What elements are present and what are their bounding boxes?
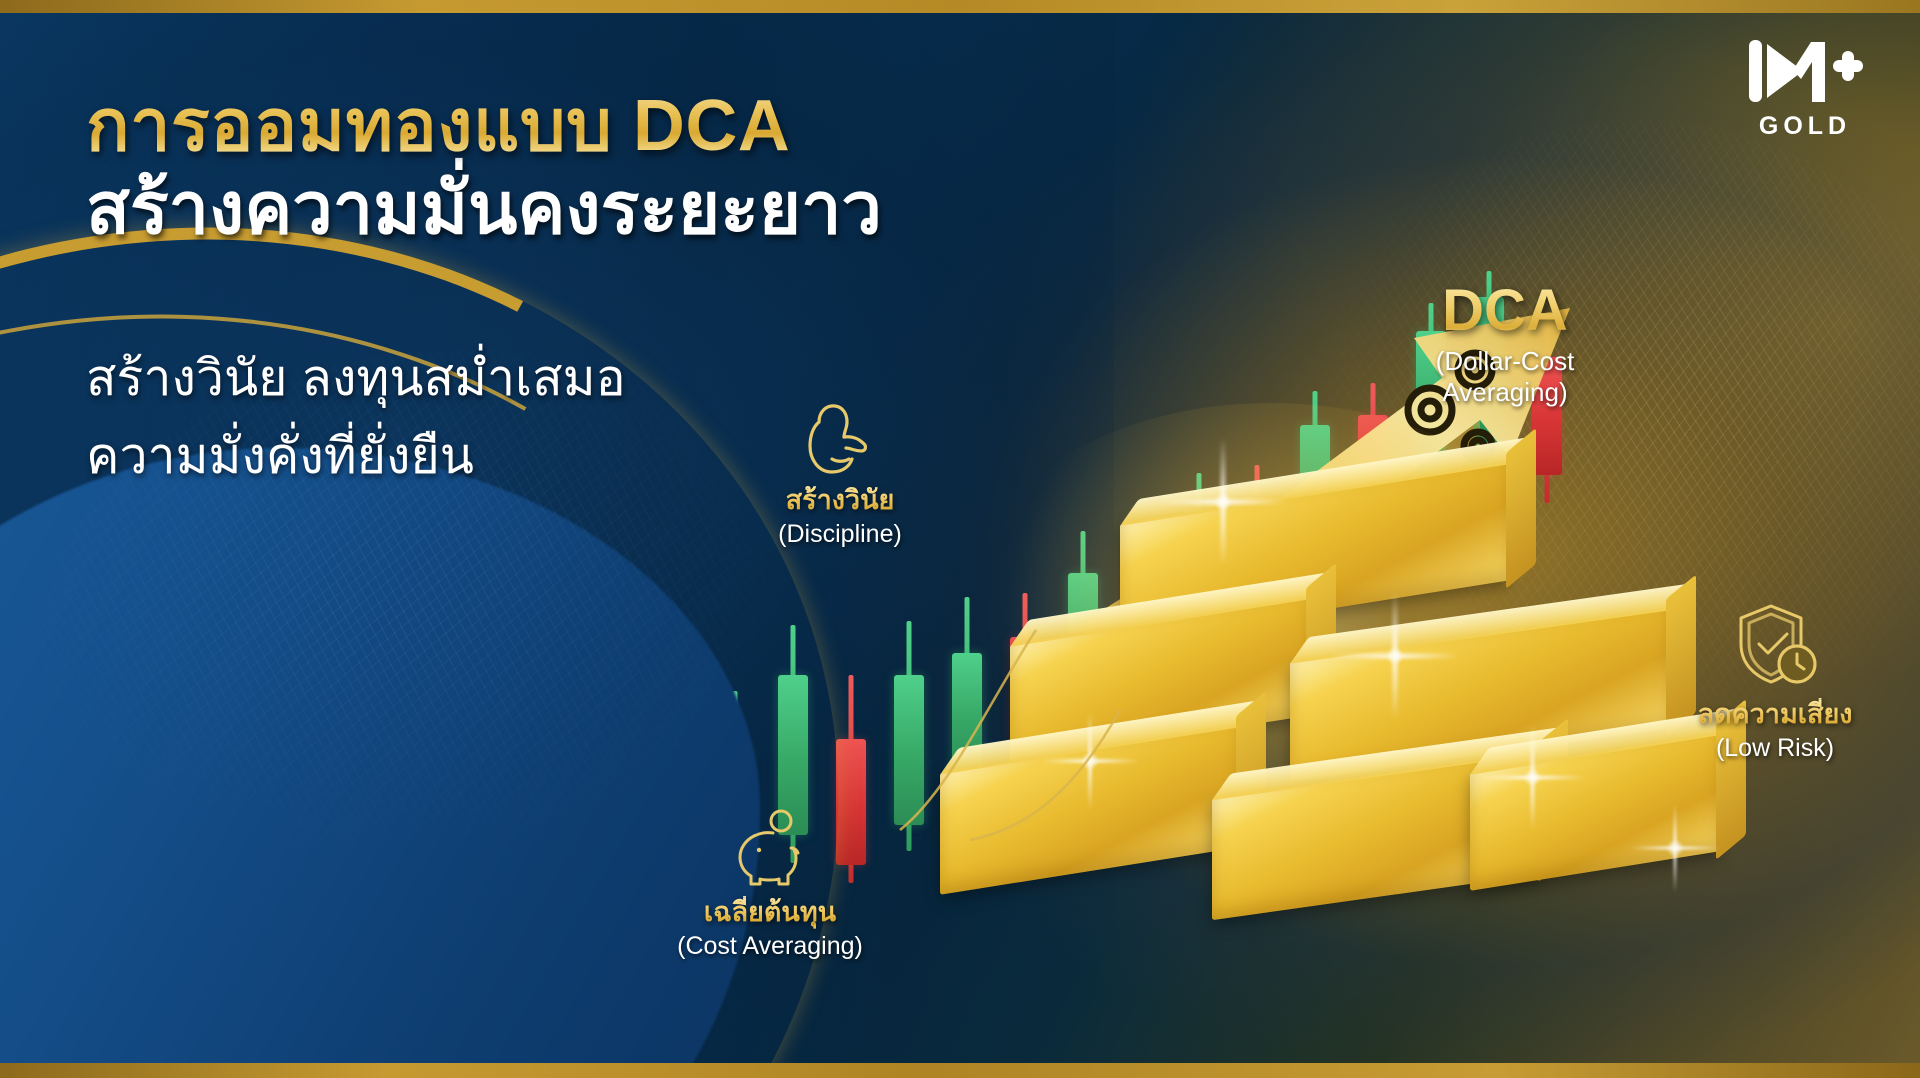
dca-badge: DCA (Dollar-Cost Averaging) — [1380, 282, 1630, 408]
top-gold-border — [0, 0, 1920, 13]
piggy-bank-icon — [728, 808, 812, 890]
dca-badge-subtitle-1: (Dollar-Cost — [1380, 346, 1630, 377]
dca-badge-title: DCA — [1380, 282, 1630, 340]
brand-logo: GOLD — [1730, 34, 1880, 141]
flexed-bicep-icon — [803, 400, 877, 478]
callout-discipline: สร้างวินัย (Discipline) — [720, 400, 960, 550]
headline-line-1: การออมทองแบบ DCA — [86, 86, 1126, 167]
brand-logo-word: GOLD — [1730, 112, 1880, 141]
callout-cost-averaging: เฉลี่ยต้นทุน (Cost Averaging) — [630, 808, 910, 962]
callout-low-risk-english: (Low Risk) — [1640, 733, 1910, 764]
callout-low-risk: ลดความเสี่ยง (Low Risk) — [1640, 600, 1910, 764]
dca-badge-subtitle-2: Averaging) — [1380, 377, 1630, 408]
callout-discipline-thai: สร้างวินัย — [720, 484, 960, 518]
headline-line-2: สร้างความมั่นคงระยะยาว — [86, 169, 1126, 250]
candlestick-body — [894, 675, 924, 825]
shield-check-clock-icon — [1727, 600, 1823, 692]
callout-low-risk-thai: ลดความเสี่ยง — [1640, 698, 1910, 732]
infographic-banner: GOLD การออมทองแบบ DCA สร้างความมั่นคงระย… — [0, 0, 1920, 1078]
headline-block: การออมทองแบบ DCA สร้างความมั่นคงระยะยาว — [86, 86, 1126, 249]
callout-cost-averaging-thai: เฉลี่ยต้นทุน — [630, 896, 910, 930]
m-plus-logo-icon — [1745, 34, 1865, 108]
gold-bars-icon — [1000, 453, 1700, 973]
bottom-gold-border — [0, 1063, 1920, 1078]
callout-cost-averaging-english: (Cost Averaging) — [630, 931, 910, 962]
callout-discipline-english: (Discipline) — [720, 519, 960, 550]
